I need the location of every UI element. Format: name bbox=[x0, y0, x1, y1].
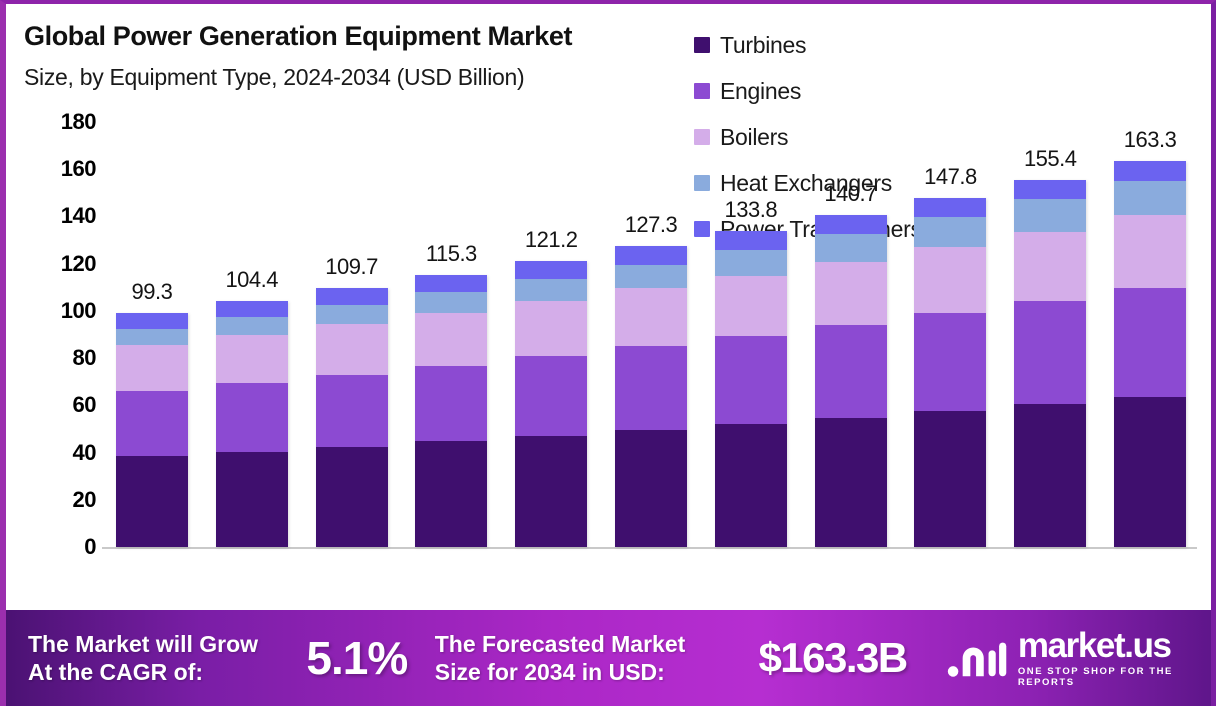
forecast-caption-line2: Size for 2034 in USD: bbox=[435, 658, 723, 686]
bar-series-container: 99.3104.4109.7115.3121.2127.3133.8140.71… bbox=[102, 122, 1200, 547]
bar-segment-heat-exchangers[interactable] bbox=[216, 317, 288, 335]
market-us-logo-icon bbox=[947, 635, 1009, 681]
bar-segment-heat-exchangers[interactable] bbox=[1114, 181, 1186, 215]
bar-segment-power-transformers[interactable] bbox=[615, 246, 687, 264]
bar-total-label: 104.4 bbox=[208, 267, 296, 293]
bar-segment-heat-exchangers[interactable] bbox=[815, 234, 887, 262]
bar-segment-boilers[interactable] bbox=[316, 324, 388, 375]
bar-group-2025[interactable]: 104.4 bbox=[208, 122, 296, 547]
forecast-value: $163.3B bbox=[722, 634, 943, 682]
bar-segment-turbines[interactable] bbox=[415, 441, 487, 547]
y-axis-tick: 40 bbox=[73, 440, 96, 466]
bar-segment-engines[interactable] bbox=[615, 346, 687, 430]
bar-stack[interactable] bbox=[116, 313, 188, 547]
bar-segment-boilers[interactable] bbox=[815, 262, 887, 325]
bar-group-2030[interactable]: 133.8 bbox=[707, 122, 795, 547]
bar-segment-engines[interactable] bbox=[316, 375, 388, 447]
page-subtitle: Size, by Equipment Type, 2024-2034 (USD … bbox=[24, 64, 694, 91]
y-axis-tick: 0 bbox=[84, 534, 96, 560]
bar-total-label: 121.2 bbox=[507, 227, 595, 253]
logo-name: market.us bbox=[1018, 628, 1216, 663]
bar-total-label: 133.8 bbox=[707, 197, 795, 223]
cagr-caption-line2: At the CAGR of: bbox=[28, 658, 285, 686]
bar-group-2033[interactable]: 155.4 bbox=[1006, 122, 1094, 547]
y-axis-tick: 100 bbox=[61, 298, 96, 324]
bar-segment-power-transformers[interactable] bbox=[515, 261, 587, 279]
bar-segment-power-transformers[interactable] bbox=[316, 288, 388, 305]
bar-group-2024[interactable]: 99.3 bbox=[108, 122, 196, 547]
bar-segment-turbines[interactable] bbox=[316, 447, 388, 547]
bar-segment-turbines[interactable] bbox=[216, 452, 288, 547]
bar-segment-power-transformers[interactable] bbox=[216, 301, 288, 318]
cagr-caption: The Market will Grow At the CAGR of: bbox=[28, 630, 285, 686]
bar-segment-boilers[interactable] bbox=[914, 247, 986, 313]
bar-stack[interactable] bbox=[415, 275, 487, 547]
bar-total-label: 155.4 bbox=[1006, 146, 1094, 172]
y-axis-tick: 20 bbox=[73, 487, 96, 513]
legend-swatch-icon bbox=[694, 37, 710, 53]
bar-segment-boilers[interactable] bbox=[515, 301, 587, 356]
bar-stack[interactable] bbox=[1114, 161, 1186, 547]
bar-total-label: 163.3 bbox=[1106, 127, 1194, 153]
bar-segment-engines[interactable] bbox=[914, 313, 986, 411]
bar-segment-engines[interactable] bbox=[715, 336, 787, 425]
legend-item-turbines[interactable]: Turbines bbox=[694, 22, 979, 68]
bar-segment-heat-exchangers[interactable] bbox=[1014, 199, 1086, 231]
bar-segment-heat-exchangers[interactable] bbox=[316, 305, 388, 324]
bar-segment-boilers[interactable] bbox=[1114, 215, 1186, 288]
bar-segment-turbines[interactable] bbox=[515, 436, 587, 547]
cagr-caption-line1: The Market will Grow bbox=[28, 630, 285, 658]
bar-stack[interactable] bbox=[914, 198, 986, 547]
market-us-logo[interactable]: market.us ONE STOP SHOP FOR THE REPORTS bbox=[947, 628, 1216, 688]
bar-segment-boilers[interactable] bbox=[116, 345, 188, 391]
cagr-value: 5.1% bbox=[285, 631, 429, 685]
y-axis-tick: 160 bbox=[61, 156, 96, 182]
bar-segment-turbines[interactable] bbox=[815, 418, 887, 547]
bar-segment-engines[interactable] bbox=[1014, 301, 1086, 404]
bar-segment-engines[interactable] bbox=[1114, 288, 1186, 397]
bar-segment-engines[interactable] bbox=[216, 383, 288, 451]
bar-segment-power-transformers[interactable] bbox=[116, 313, 188, 329]
y-axis-tick: 60 bbox=[73, 392, 96, 418]
legend-swatch-icon bbox=[694, 83, 710, 99]
forecast-caption: The Forecasted Market Size for 2034 in U… bbox=[435, 630, 723, 686]
bar-segment-turbines[interactable] bbox=[1114, 397, 1186, 547]
infographic-page: Global Power Generation Equipment Market… bbox=[0, 0, 1216, 706]
bar-group-2034[interactable]: 163.3 bbox=[1106, 122, 1194, 547]
bar-total-label: 147.8 bbox=[906, 164, 994, 190]
y-axis-tick: 120 bbox=[61, 251, 96, 277]
bar-group-2026[interactable]: 109.7 bbox=[308, 122, 396, 547]
bar-segment-engines[interactable] bbox=[515, 356, 587, 436]
bar-total-label: 140.7 bbox=[807, 181, 895, 207]
bar-segment-turbines[interactable] bbox=[615, 430, 687, 547]
y-axis: 180160140120100806040200 bbox=[28, 122, 96, 557]
bar-stack[interactable] bbox=[515, 261, 587, 547]
bar-total-label: 109.7 bbox=[308, 254, 396, 280]
bar-stack[interactable] bbox=[715, 231, 787, 547]
bar-group-2028[interactable]: 121.2 bbox=[507, 122, 595, 547]
bar-group-2029[interactable]: 127.3 bbox=[607, 122, 695, 547]
bar-segment-boilers[interactable] bbox=[216, 335, 288, 383]
title-block: Global Power Generation Equipment Market… bbox=[24, 22, 694, 91]
bar-segment-heat-exchangers[interactable] bbox=[715, 250, 787, 276]
bar-segment-power-transformers[interactable] bbox=[1114, 161, 1186, 180]
y-axis-tick: 180 bbox=[61, 109, 96, 135]
bar-stack[interactable] bbox=[815, 215, 887, 547]
page-title: Global Power Generation Equipment Market bbox=[24, 22, 694, 52]
legend-label: Engines bbox=[720, 78, 801, 105]
forecast-caption-line1: The Forecasted Market bbox=[435, 630, 723, 658]
bar-group-2027[interactable]: 115.3 bbox=[407, 122, 495, 547]
bar-stack[interactable] bbox=[615, 246, 687, 547]
footer-banner: The Market will Grow At the CAGR of: 5.1… bbox=[6, 610, 1216, 706]
bar-segment-engines[interactable] bbox=[815, 325, 887, 418]
bar-segment-heat-exchangers[interactable] bbox=[515, 279, 587, 301]
bar-total-label: 99.3 bbox=[108, 279, 196, 305]
bar-segment-turbines[interactable] bbox=[1014, 404, 1086, 547]
logo-text-wrap: market.us ONE STOP SHOP FOR THE REPORTS bbox=[1018, 628, 1216, 688]
y-axis-tick: 140 bbox=[61, 203, 96, 229]
legend-label: Turbines bbox=[720, 32, 806, 59]
legend-item-engines[interactable]: Engines bbox=[694, 68, 909, 114]
bar-total-label: 127.3 bbox=[607, 212, 695, 238]
bar-stack[interactable] bbox=[1014, 180, 1086, 547]
bar-segment-power-transformers[interactable] bbox=[1014, 180, 1086, 199]
chart-header: Global Power Generation Equipment Market… bbox=[6, 4, 1216, 122]
bar-segment-turbines[interactable] bbox=[914, 411, 986, 547]
bar-segment-heat-exchangers[interactable] bbox=[914, 217, 986, 247]
logo-tagline: ONE STOP SHOP FOR THE REPORTS bbox=[1018, 666, 1216, 688]
bar-stack[interactable] bbox=[216, 301, 288, 548]
bar-group-2031[interactable]: 140.7 bbox=[807, 122, 895, 547]
bar-segment-power-transformers[interactable] bbox=[914, 198, 986, 217]
bar-segment-engines[interactable] bbox=[116, 391, 188, 456]
bar-segment-boilers[interactable] bbox=[415, 313, 487, 366]
bar-segment-heat-exchangers[interactable] bbox=[615, 265, 687, 289]
bar-total-label: 115.3 bbox=[407, 241, 495, 267]
x-axis-line bbox=[102, 547, 1197, 549]
bar-stack[interactable] bbox=[316, 288, 388, 547]
bar-segment-turbines[interactable] bbox=[116, 456, 188, 547]
bar-segment-heat-exchangers[interactable] bbox=[116, 329, 188, 346]
bar-segment-engines[interactable] bbox=[415, 366, 487, 442]
bar-group-2032[interactable]: 147.8 bbox=[906, 122, 994, 547]
bar-segment-heat-exchangers[interactable] bbox=[415, 292, 487, 313]
bar-segment-boilers[interactable] bbox=[615, 288, 687, 346]
bar-segment-power-transformers[interactable] bbox=[715, 231, 787, 250]
bar-segment-power-transformers[interactable] bbox=[415, 275, 487, 292]
bar-segment-power-transformers[interactable] bbox=[815, 215, 887, 234]
bar-segment-boilers[interactable] bbox=[715, 276, 787, 336]
plot-area: 180160140120100806040200 99.3104.4109.71… bbox=[6, 122, 1216, 609]
y-axis-tick: 80 bbox=[73, 345, 96, 371]
bar-segment-turbines[interactable] bbox=[715, 424, 787, 547]
bar-segment-boilers[interactable] bbox=[1014, 232, 1086, 301]
